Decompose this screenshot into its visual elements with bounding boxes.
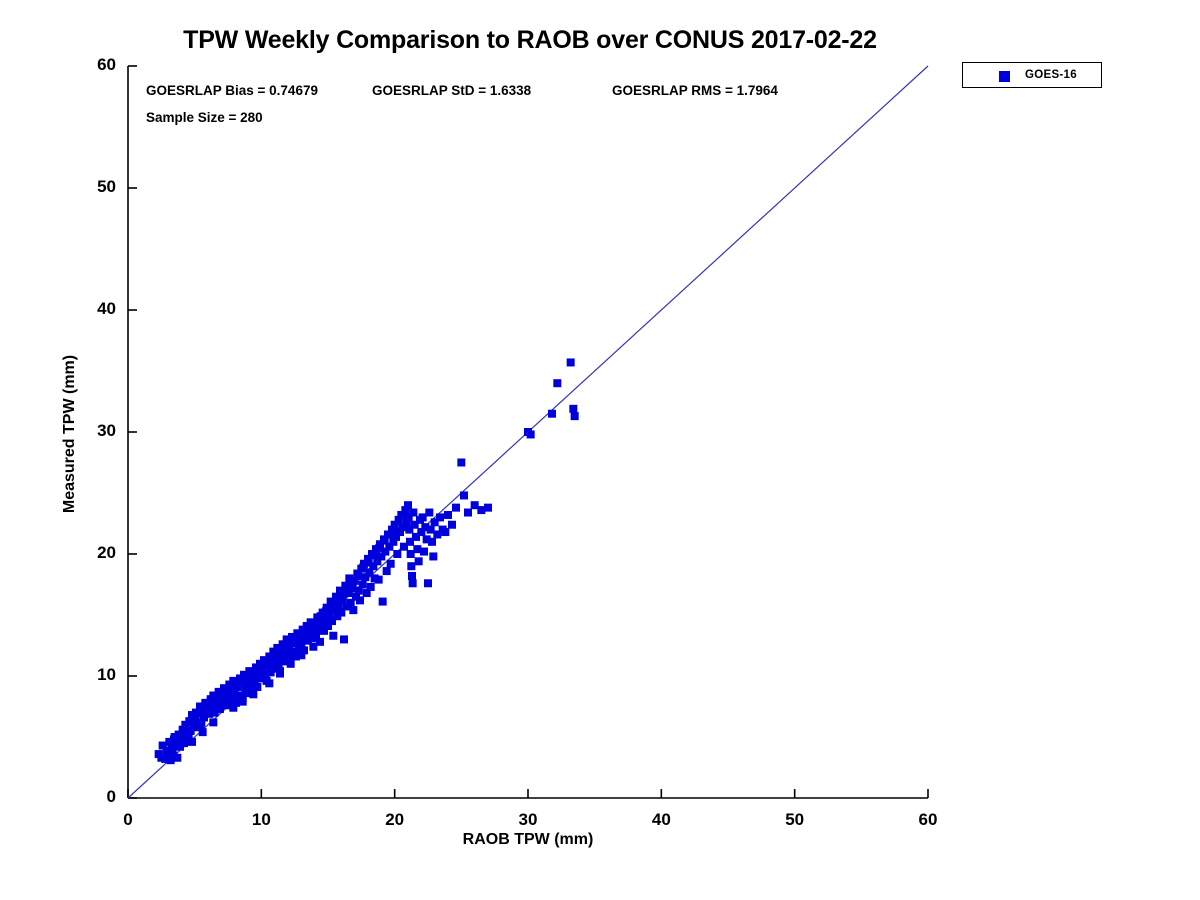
scatter-point xyxy=(367,583,375,591)
legend-swatch-goes16 xyxy=(999,71,1010,82)
scatter-point xyxy=(428,538,436,546)
scatter-point xyxy=(170,735,178,743)
scatter-point xyxy=(527,430,535,438)
scatter-point xyxy=(408,572,416,580)
scatter-point xyxy=(415,557,423,565)
scatter-point xyxy=(381,537,389,545)
scatter-point xyxy=(436,513,444,521)
scatter-point xyxy=(242,681,250,689)
scatter-point xyxy=(229,704,237,712)
scatter-point xyxy=(253,683,261,691)
scatter-point xyxy=(424,579,432,587)
scatter-point xyxy=(425,509,433,517)
scatter-point xyxy=(199,728,207,736)
scatter-point xyxy=(316,638,324,646)
y-tick-label: 50 xyxy=(56,177,116,197)
chart-figure: TPW Weekly Comparison to RAOB over CONUS… xyxy=(0,0,1200,900)
scatter-point xyxy=(429,552,437,560)
scatter-point xyxy=(173,754,181,762)
scatter-point xyxy=(409,509,417,517)
scatter-point xyxy=(452,504,460,512)
x-axis-title: RAOB TPW (mm) xyxy=(128,831,928,849)
scatter-point xyxy=(370,551,378,559)
x-tick-label: 20 xyxy=(365,810,425,830)
scatter-point xyxy=(404,501,412,509)
x-tick-label: 10 xyxy=(231,810,291,830)
scatter-point xyxy=(258,665,266,673)
scatter-point xyxy=(375,576,383,584)
scatter-point xyxy=(407,562,415,570)
scatter-point xyxy=(311,621,319,629)
scatter-points xyxy=(155,358,579,764)
scatter-point xyxy=(365,559,373,567)
scatter-point xyxy=(359,581,367,589)
scatter-point xyxy=(188,738,196,746)
scatter-point xyxy=(356,596,364,604)
scatter-point xyxy=(349,606,357,614)
scatter-point xyxy=(383,567,391,575)
x-tick-label: 30 xyxy=(498,810,558,830)
scatter-point xyxy=(457,459,465,467)
scatter-point xyxy=(393,550,401,558)
y-tick-label: 20 xyxy=(56,543,116,563)
scatter-point xyxy=(287,660,295,668)
scatter-point xyxy=(209,707,217,715)
scatter-point xyxy=(329,632,337,640)
scatter-point xyxy=(349,579,357,587)
x-tick-label: 50 xyxy=(765,810,825,830)
scatter-point xyxy=(276,670,284,678)
scatter-point xyxy=(441,528,449,536)
scatter-point xyxy=(265,679,273,687)
scatter-point xyxy=(448,521,456,529)
scatter-point xyxy=(209,718,217,726)
x-tick-label: 60 xyxy=(898,810,958,830)
scatter-point xyxy=(420,548,428,556)
y-tick-label: 0 xyxy=(56,787,116,807)
scatter-point xyxy=(197,721,205,729)
x-tick-label: 40 xyxy=(631,810,691,830)
scatter-point xyxy=(379,598,387,606)
legend-label-goes16: GOES-16 xyxy=(1025,69,1077,81)
y-tick-label: 30 xyxy=(56,421,116,441)
scatter-point xyxy=(484,504,492,512)
y-tick-label: 40 xyxy=(56,299,116,319)
y-tick-label: 10 xyxy=(56,665,116,685)
scatter-plot-canvas xyxy=(0,0,1200,900)
scatter-point xyxy=(409,579,417,587)
scatter-point xyxy=(239,698,247,706)
scatter-point xyxy=(548,410,556,418)
scatter-point xyxy=(569,405,577,413)
scatter-point xyxy=(249,690,257,698)
x-tick-label: 0 xyxy=(98,810,158,830)
legend[interactable]: GOES-16 xyxy=(962,62,1102,88)
scatter-point xyxy=(226,693,234,701)
scatter-point xyxy=(340,635,348,643)
scatter-point xyxy=(375,544,383,552)
scatter-point xyxy=(297,651,305,659)
scatter-point xyxy=(571,412,579,420)
scatter-point xyxy=(567,358,575,366)
y-tick-label: 60 xyxy=(56,55,116,75)
scatter-point xyxy=(444,511,452,519)
scatter-point xyxy=(464,509,472,517)
scatter-point xyxy=(338,594,346,602)
scatter-point xyxy=(460,491,468,499)
scatter-point xyxy=(354,572,362,580)
scatter-point xyxy=(553,379,561,387)
scatter-point xyxy=(387,560,395,568)
scatter-point xyxy=(165,749,173,757)
scatter-point xyxy=(191,713,199,721)
